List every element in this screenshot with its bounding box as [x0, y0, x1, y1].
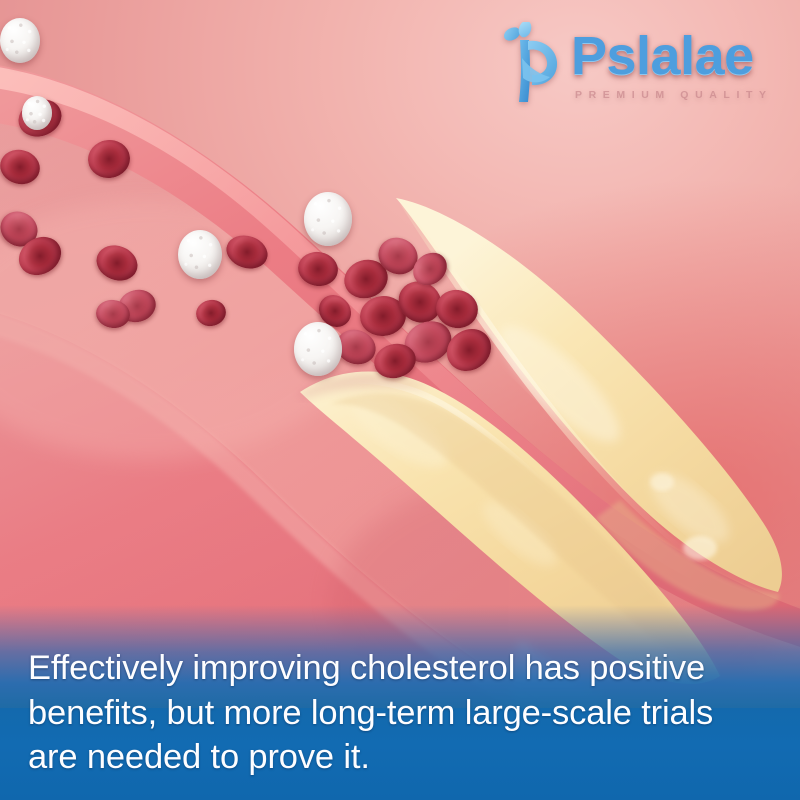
- brand-wordmark: Pslalae: [571, 29, 773, 83]
- caption-banner: Effectively improving cholesterol has po…: [0, 605, 800, 800]
- artery-plaque-graphic: Pslalae PREMIUM QUALITY Effectively impr…: [0, 0, 800, 800]
- red-blood-cell: [295, 249, 340, 289]
- white-blood-cell: [0, 18, 40, 63]
- red-blood-cell: [194, 297, 229, 329]
- red-blood-cell: [91, 239, 143, 286]
- caption-line: Effectively improving cholesterol has po…: [28, 646, 780, 691]
- brand-tagline: PREMIUM QUALITY: [575, 90, 773, 101]
- red-blood-cell: [222, 230, 272, 273]
- white-blood-cell: [22, 96, 52, 130]
- red-blood-cell: [86, 137, 133, 180]
- leaf-p-monogram-icon: [500, 22, 564, 104]
- white-blood-cell: [304, 192, 352, 246]
- brand-logo: Pslalae PREMIUM QUALITY: [500, 22, 773, 104]
- caption-text: Effectively improving cholesterol has po…: [28, 646, 780, 780]
- white-blood-cell: [178, 230, 222, 279]
- white-blood-cell: [294, 322, 342, 376]
- caption-line: are needed to prove it.: [28, 735, 780, 780]
- red-blood-cell: [0, 146, 44, 189]
- caption-line: benefits, but more long-term large-scale…: [28, 691, 780, 736]
